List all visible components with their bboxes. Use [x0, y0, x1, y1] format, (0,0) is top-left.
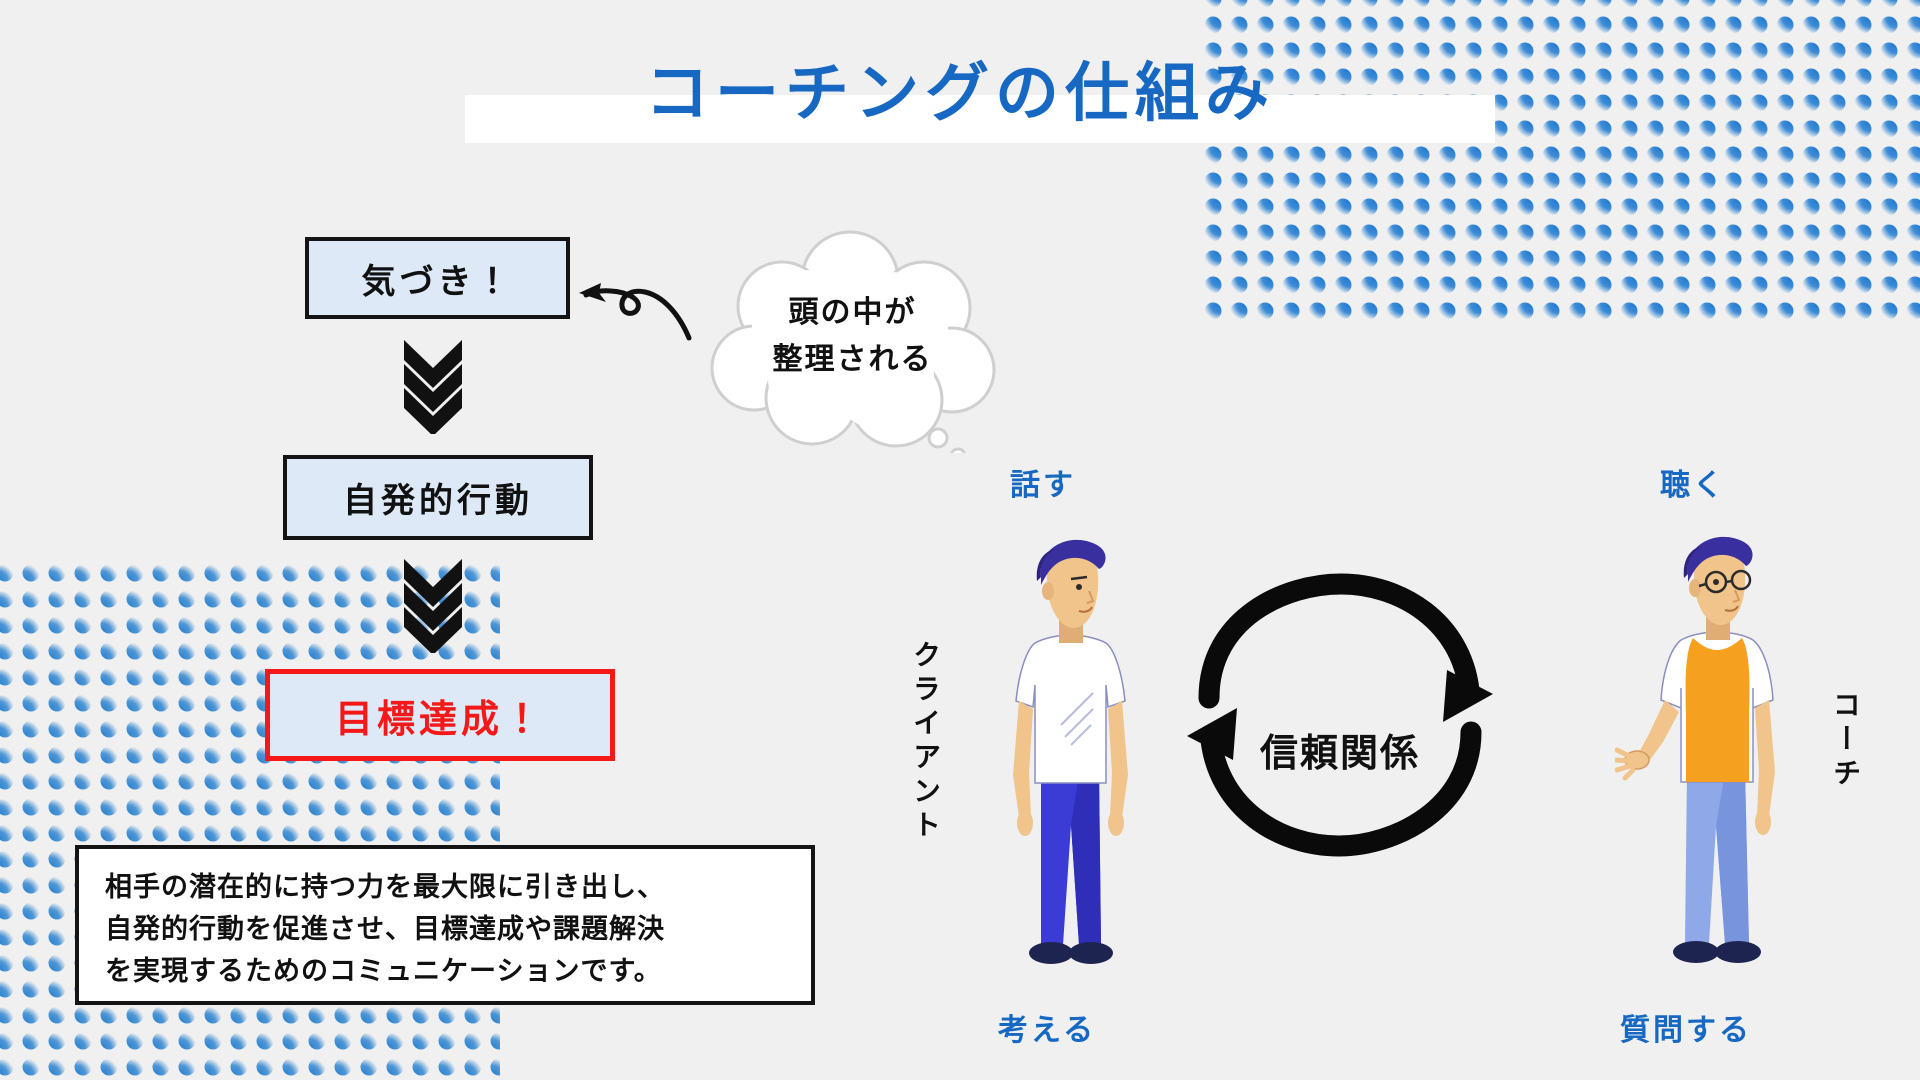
coach-role-label: コーチ [1825, 690, 1865, 792]
coach-illustration [1615, 520, 1815, 989]
flow-step-action: 自発的行動 [283, 455, 593, 540]
coach-bottom-label: 質問する [1620, 1005, 1752, 1049]
flow-step-awareness: 気づき！ [305, 237, 570, 319]
client-bottom-label: 考える [998, 1005, 1096, 1049]
flow-connector-1 [400, 338, 466, 434]
thought-bubble: 頭の中が 整理される [700, 228, 1005, 453]
thought-bubble-text: 頭の中が 整理される [700, 290, 1005, 383]
description-line-2: 自発的行動を促進させ、目標達成や課題解決 [105, 909, 789, 951]
thought-line-2: 整理される [700, 337, 1005, 384]
trust-cycle-label: 信頼関係 [1175, 722, 1505, 777]
curly-arrow-left-icon [575, 268, 695, 347]
slide-canvas: コーチングの仕組み 気づき！ 自発的行動 目標達成！ [0, 0, 1920, 1080]
thought-line-1: 頭の中が [700, 290, 1005, 337]
flow-connector-2 [400, 557, 466, 653]
page-title: コーチングの仕組み [0, 42, 1920, 134]
coach-top-label: 聴く [1660, 460, 1726, 504]
client-role-label: クライアント [905, 640, 945, 844]
description-line-1: 相手の潜在的に持つ力を最大限に引き出し、 [105, 867, 789, 909]
trust-cycle-arrows-icon [1175, 570, 1505, 860]
client-top-label: 話す [1010, 460, 1076, 504]
client-illustration [975, 525, 1160, 989]
description-box: 相手の潜在的に持つ力を最大限に引き出し、 自発的行動を促進させ、目標達成や課題解… [75, 845, 815, 1005]
description-line-3: を実現するためのコミュニケーションです。 [105, 951, 789, 993]
flow-step-goal: 目標達成！ [265, 669, 615, 761]
